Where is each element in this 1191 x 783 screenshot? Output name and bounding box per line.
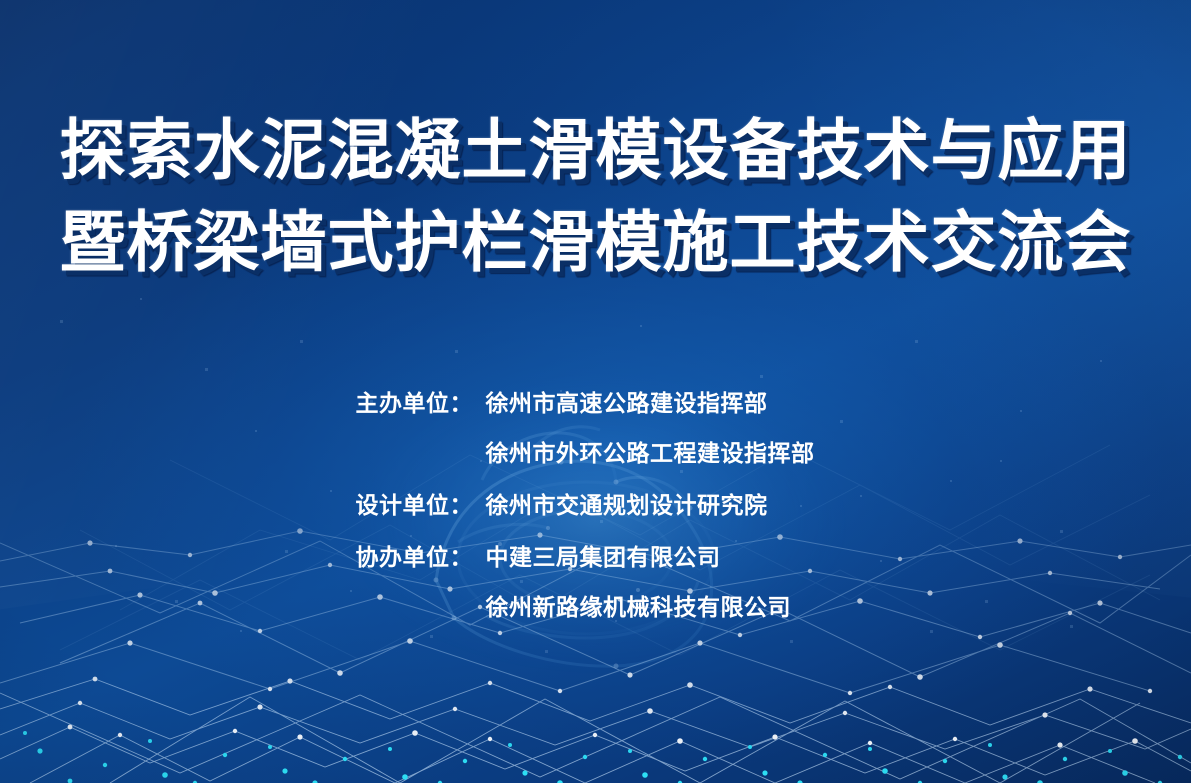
organizer-label-coorg-blank xyxy=(356,582,486,632)
light-sweep-right xyxy=(586,0,1191,606)
organizer-value-design: 徐州市交通规划设计研究院 xyxy=(486,480,768,530)
organizer-label-host: 主办单位： xyxy=(356,378,486,428)
particle-field-icon xyxy=(0,280,1191,680)
organizer-row-design: 设计单位： 徐州市交通规划设计研究院 xyxy=(0,480,1191,530)
hand-network-icon xyxy=(286,330,906,730)
organizer-list: 主办单位： 徐州市高速公路建设指挥部 徐州市外环公路工程建设指挥部 设计单位： … xyxy=(0,378,1191,632)
organizer-row-coorg-1: 协办单位： 中建三局集团有限公司 xyxy=(0,532,1191,582)
title-line-1: 探索水泥混凝土滑模设备技术与应用 xyxy=(0,104,1191,196)
organizer-row-host-2: 徐州市外环公路工程建设指挥部 xyxy=(0,428,1191,478)
vignette-overlay xyxy=(0,0,1191,783)
organizer-row-host-1: 主办单位： 徐州市高速公路建设指挥部 xyxy=(0,378,1191,428)
conference-banner: 探索水泥混凝土滑模设备技术与应用 暨桥梁墙式护栏滑模施工技术交流会 主办单位： … xyxy=(0,0,1191,783)
organizer-value-coorg-1: 中建三局集团有限公司 xyxy=(486,532,721,582)
organizer-label-host-blank xyxy=(356,428,486,478)
organizer-label-design: 设计单位： xyxy=(356,480,486,530)
light-sweep-left xyxy=(0,0,712,612)
organizer-value-coorg-2: 徐州新路缘机械科技有限公司 xyxy=(486,582,792,632)
organizer-row-coorg-2: 徐州新路缘机械科技有限公司 xyxy=(0,582,1191,632)
network-mesh-icon xyxy=(0,483,1191,783)
page-title: 探索水泥混凝土滑模设备技术与应用 暨桥梁墙式护栏滑模施工技术交流会 xyxy=(0,104,1191,288)
organizer-value-host-2: 徐州市外环公路工程建设指挥部 xyxy=(486,428,815,478)
title-line-2: 暨桥梁墙式护栏滑模施工技术交流会 xyxy=(0,196,1191,288)
organizer-value-host-1: 徐州市高速公路建设指挥部 xyxy=(486,378,768,428)
organizer-label-coorg: 协办单位： xyxy=(356,532,486,582)
